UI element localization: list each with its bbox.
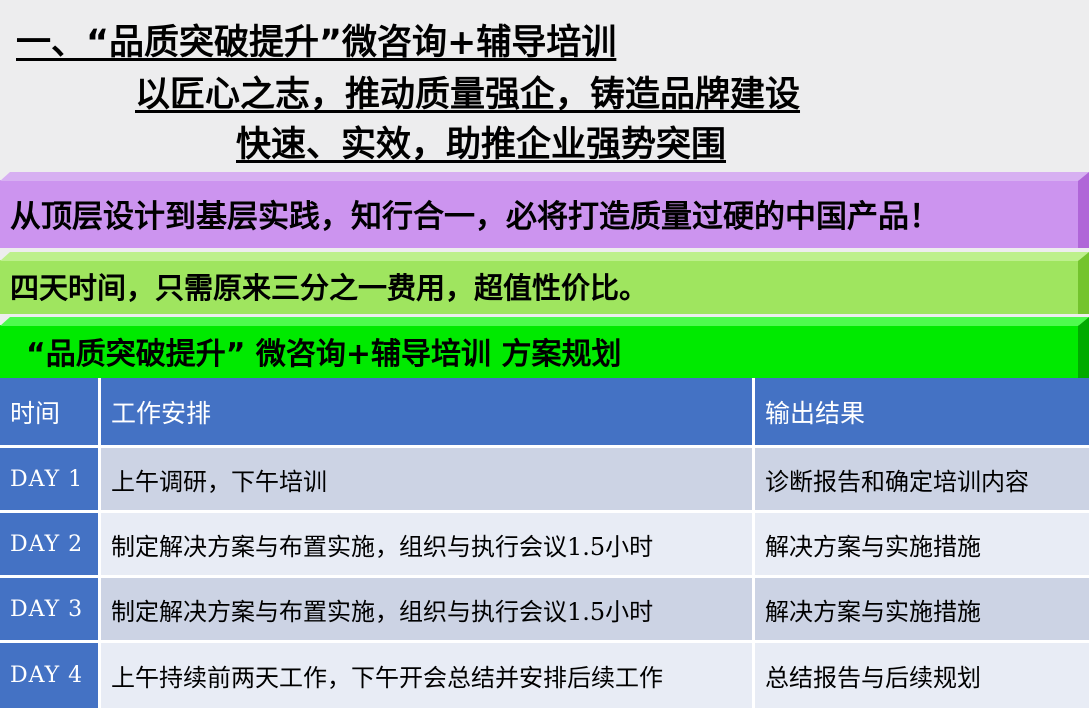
table-cell-output: 诊断报告和确定培训内容 <box>755 448 1089 513</box>
table-row: DAY 2 制定解决方案与布置实施，组织与执行会议1.5小时 解决方案与实施措施 <box>0 513 1089 578</box>
banner-light-green-text: 四天时间，只需原来三分之一费用，超值性价比。 <box>0 259 648 307</box>
banner-purple-top-bevel <box>0 172 1089 181</box>
heading-line-1: 一、“品质突破提升”微咨询+辅导培训 <box>16 14 616 65</box>
heading-line-3: 快速、实效，助推企业强势突围 <box>236 116 726 167</box>
banner-light-green-side-bevel <box>1078 252 1089 314</box>
table-cell-time: DAY 1 <box>0 448 101 513</box>
table-cell-output: 总结报告与后续规划 <box>755 643 1089 708</box>
plan-table-title: “品质突破提升” 微咨询+辅导培训 方案规划 <box>0 322 621 373</box>
table-cell-work: 制定解决方案与布置实施，组织与执行会议1.5小时 <box>101 578 755 643</box>
banner-bright-green-side-bevel <box>1078 317 1089 378</box>
table-cell-output: 解决方案与实施措施 <box>755 513 1089 578</box>
table-row: DAY 3 制定解决方案与布置实施，组织与执行会议1.5小时 解决方案与实施措施 <box>0 578 1089 643</box>
table-header-work: 工作安排 <box>101 378 755 448</box>
plan-table: 时间 工作安排 输出结果 DAY 1 上午调研，下午培训 诊断报告和确定培训内容… <box>0 378 1089 708</box>
banner-purple: 从顶层设计到基层实践，知行合一，必将打造质量过硬的中国产品！ <box>0 172 1089 248</box>
banner-purple-side-bevel <box>1078 172 1089 248</box>
banner-purple-text: 从顶层设计到基层实践，知行合一，必将打造质量过硬的中国产品！ <box>0 185 940 236</box>
table-cell-time: DAY 2 <box>0 513 101 578</box>
table-cell-work: 上午调研，下午培训 <box>101 448 755 513</box>
slide-heading-block: 一、“品质突破提升”微咨询+辅导培训 以匠心之志，推动质量强企，铸造品牌建设 快… <box>0 0 1089 170</box>
banner-bright-green: “品质突破提升” 微咨询+辅导培训 方案规划 <box>0 317 1089 378</box>
table-cell-work: 上午持续前两天工作，下午开会总结并安排后续工作 <box>101 643 755 708</box>
table-cell-time: DAY 4 <box>0 643 101 708</box>
table-cell-output: 解决方案与实施措施 <box>755 578 1089 643</box>
banner-light-green: 四天时间，只需原来三分之一费用，超值性价比。 <box>0 252 1089 314</box>
table-header-row: 时间 工作安排 输出结果 <box>0 378 1089 448</box>
table-header-time: 时间 <box>0 378 101 448</box>
heading-line-2: 以匠心之志，推动质量强企，铸造品牌建设 <box>135 66 800 117</box>
table-row: DAY 4 上午持续前两天工作，下午开会总结并安排后续工作 总结报告与后续规划 <box>0 643 1089 708</box>
table-row: DAY 1 上午调研，下午培训 诊断报告和确定培训内容 <box>0 448 1089 513</box>
table-cell-work: 制定解决方案与布置实施，组织与执行会议1.5小时 <box>101 513 755 578</box>
table-cell-time: DAY 3 <box>0 578 101 643</box>
table-header-output: 输出结果 <box>755 378 1089 448</box>
